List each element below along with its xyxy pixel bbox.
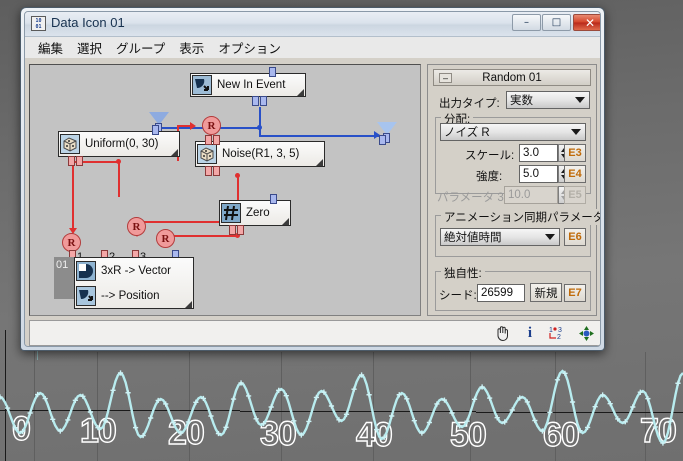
- collapse-icon[interactable]: –: [439, 73, 452, 83]
- chevron-down-icon: [575, 97, 585, 103]
- output-type-label: 出力タイプ:: [439, 95, 500, 111]
- status-bar-icons: i 132: [492, 323, 596, 343]
- output-index-badge: 01: [54, 257, 74, 299]
- output-type-select[interactable]: 実数: [506, 91, 590, 109]
- animation-sync-select[interactable]: 絶対値時間: [440, 228, 560, 246]
- animation-expression-button[interactable]: E6: [564, 228, 586, 246]
- chevron-down-icon: [571, 129, 581, 135]
- order-numbers-icon[interactable]: 132: [548, 323, 568, 343]
- animation-group-title: アニメーション同期パラメータ:: [441, 209, 601, 225]
- binary-data-icon: 1001: [31, 16, 46, 31]
- port-event-top[interactable]: [269, 67, 276, 77]
- menu-options[interactable]: オプション: [211, 37, 288, 58]
- scale-expression-button[interactable]: E3: [564, 144, 586, 162]
- menu-select[interactable]: 選択: [70, 37, 109, 58]
- port-uniform-out-a[interactable]: [68, 156, 75, 166]
- node-label: Zero: [242, 207, 270, 219]
- resize-corner: [185, 301, 192, 308]
- menu-group[interactable]: グループ: [109, 37, 172, 58]
- window-body: R R R R New In Event Uniform(0, 30): [25, 58, 600, 346]
- port-noise-out-a[interactable]: [205, 166, 212, 176]
- param3-value: 10.0: [508, 189, 530, 201]
- dice-icon: [197, 144, 217, 164]
- menu-view[interactable]: 表示: [172, 37, 211, 58]
- strength-input[interactable]: 5.0: [519, 165, 558, 183]
- output-type-value: 実数: [510, 92, 533, 108]
- distribution-value: ノイズ R: [444, 124, 490, 140]
- particle-curve-svg: [0, 355, 683, 461]
- scale-value: 3.0: [523, 147, 539, 159]
- particle-curve: [0, 355, 683, 461]
- event-icon: [192, 75, 212, 95]
- wire-arrow-to-r-noise: [190, 122, 196, 130]
- node-label: Noise(R1, 3, 5): [218, 148, 299, 160]
- seed-input[interactable]: 26599: [477, 284, 525, 302]
- node-zero[interactable]: Zero: [219, 200, 291, 226]
- maximize-button[interactable]: □: [542, 14, 571, 31]
- chevron-down-icon: [545, 234, 555, 240]
- seed-expression-button[interactable]: E7: [564, 284, 586, 302]
- port-zero-out-a[interactable]: [229, 225, 236, 235]
- node-vector[interactable]: 3xR -> Vector: [75, 258, 193, 283]
- port-noise-out-b[interactable]: [213, 166, 220, 176]
- param3-label: パラメータ 3:: [437, 189, 507, 205]
- minimize-icon: –: [513, 15, 540, 30]
- application-window[interactable]: 1001 Data Icon 01 – □ ✕ 編集 選択 グループ 表示 オプ…: [20, 7, 605, 351]
- scale-input[interactable]: 3.0: [519, 144, 558, 162]
- panel-scrollbar[interactable]: [600, 64, 601, 316]
- param3-input: 10.0: [504, 186, 558, 204]
- distribution-select[interactable]: ノイズ R: [440, 123, 586, 141]
- node-output-group[interactable]: 3xR -> Vector --> Position: [74, 257, 194, 309]
- port-zero-out-b[interactable]: [237, 225, 244, 235]
- dice-icon: [60, 134, 80, 154]
- sphere-icon: [76, 261, 96, 281]
- close-button[interactable]: ✕: [573, 14, 601, 31]
- new-seed-button[interactable]: 新規: [530, 283, 562, 302]
- window-inner: 1001 Data Icon 01 – □ ✕ 編集 選択 グループ 表示 オプ…: [24, 11, 601, 347]
- scale-label: スケール:: [465, 147, 514, 163]
- port-uniform-out-b[interactable]: [76, 156, 83, 166]
- properties-panel: – Random 01 出力タイプ: 実数 分配: ノイズ R スケール: 3.…: [427, 64, 597, 316]
- port-event-bottom-a[interactable]: [252, 96, 259, 106]
- node-graph-canvas[interactable]: R R R R New In Event Uniform(0, 30): [29, 64, 421, 316]
- uniqueness-group-title: 独自性:: [441, 265, 485, 281]
- window-title: Data Icon 01: [51, 15, 125, 30]
- node-label: --> Position: [97, 290, 159, 302]
- resize-corner: [297, 89, 304, 96]
- node-label: Uniform(0, 30): [81, 138, 159, 150]
- r-node-noise-input[interactable]: R: [202, 116, 221, 135]
- param3-expression-button: E5: [564, 186, 586, 204]
- port-noise-in-a[interactable]: [205, 135, 212, 145]
- wire-event-to-noise: [259, 135, 379, 137]
- port-zero-top[interactable]: [270, 194, 277, 204]
- wire-uniform-out-v: [118, 161, 120, 197]
- resize-corner: [171, 149, 178, 156]
- title-bar[interactable]: 1001 Data Icon 01 – □ ✕: [25, 12, 600, 37]
- node-label: 3xR -> Vector: [97, 265, 171, 277]
- menu-edit[interactable]: 編集: [31, 37, 70, 58]
- svg-text:3: 3: [558, 327, 562, 334]
- node-position[interactable]: --> Position: [75, 283, 193, 308]
- node-uniform[interactable]: Uniform(0, 30): [58, 131, 180, 157]
- wire-uniform-side-v: [72, 161, 74, 230]
- svg-text:1: 1: [549, 327, 553, 334]
- node-new-in-event[interactable]: New In Event: [190, 73, 306, 97]
- r-node-vector-2[interactable]: R: [127, 217, 146, 236]
- seed-label: シード:: [439, 287, 477, 303]
- minimize-button[interactable]: –: [512, 14, 541, 31]
- rollup-title: Random 01: [482, 72, 541, 84]
- port-noise-top[interactable]: [379, 135, 386, 145]
- resize-corner: [316, 159, 323, 166]
- wire-junction-blue: [257, 125, 262, 130]
- strength-label: 強度:: [476, 168, 502, 184]
- animation-sync-value: 絶対値時間: [444, 229, 502, 245]
- hash-icon: [221, 203, 241, 223]
- close-icon: ✕: [574, 15, 601, 30]
- resize-corner: [282, 218, 289, 225]
- port-noise-in-b[interactable]: [213, 135, 220, 145]
- svg-text:2: 2: [557, 334, 561, 341]
- move-axis-icon[interactable]: [576, 323, 596, 343]
- status-bar: i 132: [29, 320, 601, 346]
- seed-value: 26599: [481, 287, 513, 299]
- maximize-icon: □: [543, 15, 570, 30]
- pan-hand-icon[interactable]: [492, 323, 512, 343]
- port-event-bottom-b[interactable]: [260, 96, 267, 106]
- wire-zero-to-r3-h: [171, 235, 239, 237]
- strength-value: 5.0: [523, 168, 539, 180]
- strength-expression-button[interactable]: E4: [564, 165, 586, 183]
- wire-uniform-top-h: [177, 125, 191, 127]
- info-icon[interactable]: i: [520, 323, 540, 343]
- rollup-header-random[interactable]: – Random 01: [433, 69, 591, 86]
- wire-dot-noise-out: [235, 173, 240, 178]
- node-label: New In Event: [213, 79, 285, 91]
- position-icon: [76, 286, 96, 306]
- menu-bar: 編集 選択 グループ 表示 オプション: [25, 37, 600, 59]
- r-node-vector-3[interactable]: R: [156, 229, 175, 248]
- port-uniform-top[interactable]: [152, 125, 159, 135]
